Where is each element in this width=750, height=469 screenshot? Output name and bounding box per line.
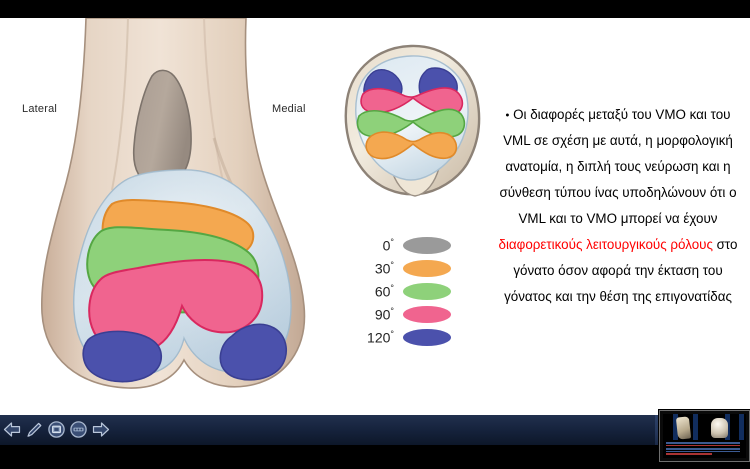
thumbnail-image-left — [676, 416, 691, 439]
legend-angle-label: 30° — [352, 260, 403, 277]
slide-canvas: Lateral Medial — [0, 18, 750, 415]
thumbnail-text-line — [666, 451, 740, 453]
label-lateral: Lateral — [22, 103, 57, 115]
toolbar-button-group — [2, 418, 111, 441]
presenter-toolbar — [0, 415, 750, 445]
arrow-right-icon — [91, 421, 110, 438]
thumbnail-text-line — [666, 445, 740, 447]
thumbnail-text-line — [666, 448, 740, 450]
pen-icon — [25, 420, 44, 439]
next-slide-button[interactable] — [90, 418, 111, 441]
legend-row-60deg: 60° — [352, 280, 472, 302]
legend-swatch-30deg — [403, 260, 451, 277]
label-medial: Medial — [272, 103, 306, 115]
distal-femur-illustration: Lateral Medial — [8, 18, 338, 398]
thumbnail-stripe — [693, 414, 698, 440]
menu-button[interactable] — [68, 418, 89, 441]
patella-illustration — [333, 40, 493, 205]
angle-legend: 0° 30° 60° 90° 120° — [352, 234, 472, 349]
legend-swatch-120deg — [403, 329, 451, 346]
presentation-screen: Lateral Medial — [0, 0, 750, 469]
legend-angle-label: 90° — [352, 306, 403, 323]
thumbnail-text-line — [666, 453, 712, 455]
body-text-highlight: διαφορετικούς λειτουργικούς ρόλους — [499, 237, 713, 252]
previous-slide-button[interactable] — [2, 418, 23, 441]
thumbnail-content — [663, 414, 746, 458]
legend-row-120deg: 120° — [352, 326, 472, 348]
legend-swatch-90deg — [403, 306, 451, 323]
menu-dots-icon — [69, 420, 88, 439]
slide-view-button[interactable] — [46, 418, 67, 441]
slide-body-text: • Οι διαφορές μεταξύ του VMO και του VML… — [492, 102, 744, 310]
legend-row-30deg: 30° — [352, 257, 472, 279]
legend-row-90deg: 90° — [352, 303, 472, 325]
legend-angle-label: 0° — [352, 237, 403, 254]
legend-row-0deg: 0° — [352, 234, 472, 256]
thumbnail-text-line — [666, 442, 740, 444]
next-slide-thumbnail[interactable] — [659, 410, 750, 462]
legend-swatch-60deg — [403, 283, 451, 300]
slide-icon — [47, 420, 66, 439]
thumbnail-stripe — [739, 414, 744, 440]
pen-tool-button[interactable] — [24, 418, 45, 441]
body-text-segment-1: Οι διαφορές μεταξύ του VMO και του VML σ… — [499, 107, 736, 226]
arrow-left-icon — [3, 421, 22, 438]
legend-swatch-0deg — [403, 237, 451, 254]
legend-angle-label: 60° — [352, 283, 403, 300]
legend-angle-label: 120° — [352, 329, 403, 346]
thumbnail-image-right — [711, 418, 728, 438]
